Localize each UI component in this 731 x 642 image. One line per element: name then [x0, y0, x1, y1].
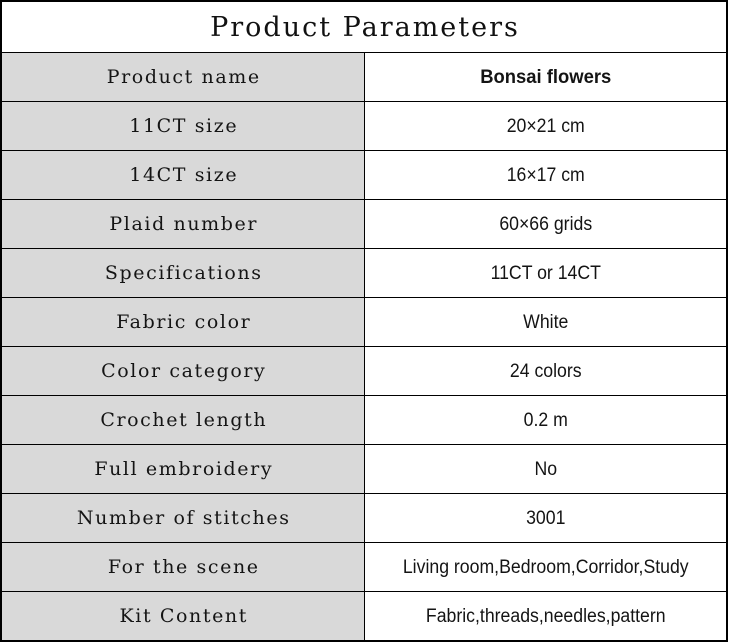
page-title: Product Parameters	[2, 14, 726, 41]
table-row: Specifications11CT or 14CT	[1, 249, 727, 298]
parameter-value: 16×17 cm	[377, 166, 713, 185]
parameter-label-cell: Plaid number	[1, 200, 364, 249]
parameter-value: White	[377, 313, 713, 332]
parameter-label-cell: 14CT size	[1, 151, 364, 200]
parameter-label: 11CT size	[2, 117, 364, 136]
parameter-value-cell: Living room,Bedroom,Corridor,Study	[364, 543, 727, 592]
parameter-value-cell: 60×66 grids	[364, 200, 727, 249]
parameter-label: Number of stitches	[2, 509, 364, 528]
parameter-label: For the scene	[2, 558, 364, 577]
parameter-value-cell: 20×21 cm	[364, 102, 727, 151]
parameter-label-cell: Number of stitches	[1, 494, 364, 543]
parameter-value: 20×21 cm	[377, 117, 713, 136]
parameter-value: No	[377, 460, 713, 479]
table-body: Product Parameters Product nameBonsai fl…	[1, 1, 727, 641]
parameter-value-cell: 0.2 m	[364, 396, 727, 445]
parameter-label: Full embroidery	[2, 460, 364, 479]
table-row: Number of stitches3001	[1, 494, 727, 543]
parameter-label-cell: For the scene	[1, 543, 364, 592]
table-title-row: Product Parameters	[1, 1, 727, 53]
parameter-label: Color category	[2, 362, 364, 381]
parameter-value: Bonsai flowers	[370, 68, 721, 87]
parameter-label-cell: Fabric color	[1, 298, 364, 347]
table-title-cell: Product Parameters	[1, 1, 727, 53]
parameter-value: 24 colors	[377, 362, 713, 381]
parameter-value: 0.2 m	[377, 411, 713, 430]
parameter-value-cell: White	[364, 298, 727, 347]
parameter-value: Fabric,threads,needles,pattern	[377, 607, 713, 626]
parameter-value: 11CT or 14CT	[377, 264, 713, 283]
parameter-label-cell: 11CT size	[1, 102, 364, 151]
parameter-label-cell: Product name	[1, 53, 364, 102]
table-row: Plaid number60×66 grids	[1, 200, 727, 249]
parameter-label: Specifications	[2, 264, 364, 283]
parameter-label-cell: Crochet length	[1, 396, 364, 445]
table-row: Fabric colorWhite	[1, 298, 727, 347]
parameter-label-cell: Full embroidery	[1, 445, 364, 494]
parameter-label-cell: Kit Content	[1, 592, 364, 642]
parameter-value-cell: 24 colors	[364, 347, 727, 396]
table-row: Full embroideryNo	[1, 445, 727, 494]
product-parameters-table: Product Parameters Product nameBonsai fl…	[0, 0, 728, 642]
parameter-value-cell: 11CT or 14CT	[364, 249, 727, 298]
parameter-value: Living room,Bedroom,Corridor,Study	[377, 558, 713, 577]
parameter-value-cell: No	[364, 445, 727, 494]
table-row: Color category24 colors	[1, 347, 727, 396]
parameter-label: Crochet length	[2, 411, 364, 430]
parameter-value-cell: 3001	[364, 494, 727, 543]
table-row: Crochet length0.2 m	[1, 396, 727, 445]
table-row: Kit ContentFabric,threads,needles,patter…	[1, 592, 727, 642]
parameter-label: Kit Content	[2, 607, 364, 626]
table-row: 14CT size16×17 cm	[1, 151, 727, 200]
parameter-label: 14CT size	[2, 166, 364, 185]
parameter-label-cell: Color category	[1, 347, 364, 396]
parameter-label: Product name	[2, 68, 364, 87]
parameter-value: 3001	[377, 509, 713, 528]
table-row: 11CT size20×21 cm	[1, 102, 727, 151]
parameter-label: Plaid number	[2, 215, 364, 234]
parameter-value: 60×66 grids	[377, 215, 713, 234]
table-row: Product nameBonsai flowers	[1, 53, 727, 102]
parameter-label-cell: Specifications	[1, 249, 364, 298]
parameter-label: Fabric color	[2, 313, 364, 332]
parameter-value-cell: 16×17 cm	[364, 151, 727, 200]
parameter-value-cell: Bonsai flowers	[364, 53, 727, 102]
table-row: For the sceneLiving room,Bedroom,Corrido…	[1, 543, 727, 592]
parameter-value-cell: Fabric,threads,needles,pattern	[364, 592, 727, 642]
product-parameters-sheet: Product Parameters Product nameBonsai fl…	[0, 0, 731, 630]
